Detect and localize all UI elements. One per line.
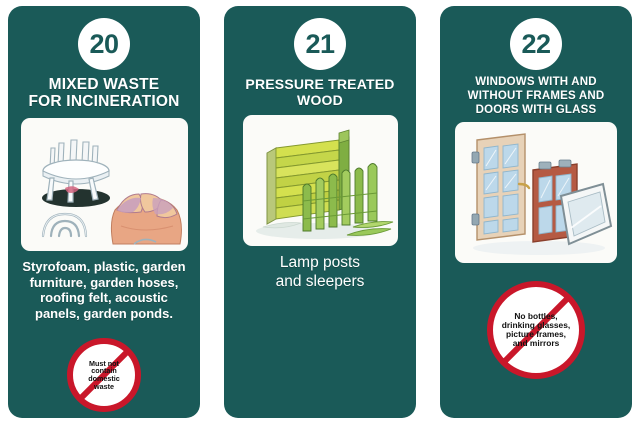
card-20-prohibition-text: Must not contain domestic waste xyxy=(88,360,120,391)
card-21-title: PRESSURE TREATED WOOD xyxy=(243,76,396,108)
card-20-number: 20 xyxy=(89,31,118,58)
recycling-signage-board: 20 MIXED WASTE FOR INCINERATION xyxy=(0,0,640,428)
card-21-illustration-panel xyxy=(243,115,398,246)
card-22-prohibition-line-4: and mirrors xyxy=(502,339,570,348)
card-20-caption-line-1: Styrofoam, plastic, garden xyxy=(22,259,185,275)
card-20-prohibition-line-4: waste xyxy=(88,383,120,391)
green-treated-fence-panel-icon xyxy=(243,115,398,246)
card-20-illustration-panel xyxy=(21,118,188,251)
card-22-title-line-3: DOORS WITH GLASS xyxy=(468,104,605,118)
card-20-caption-line-3: roofing felt, acoustic xyxy=(22,290,185,306)
card-21-caption-line-2: and sleepers xyxy=(276,273,365,292)
card-22-number-badge: 22 xyxy=(510,18,562,70)
card-22-title-line-2: WITHOUT FRAMES AND xyxy=(468,90,605,104)
card-22-prohibition-sign: No bottles, drinking glasses, picture fr… xyxy=(487,281,585,379)
card-20-caption-line-2: furniture, garden hoses, xyxy=(22,275,185,291)
card-20-title-line-1: MIXED WASTE xyxy=(28,76,179,93)
card-21-caption-line-1: Lamp posts xyxy=(276,254,365,273)
card-21-number: 21 xyxy=(305,31,334,58)
card-20-caption-line-4: panels, garden ponds. xyxy=(22,306,185,322)
card-21-caption: Lamp posts and sleepers xyxy=(272,254,369,291)
card-20-title: MIXED WASTE FOR INCINERATION xyxy=(26,76,181,111)
card-20-title-line-2: FOR INCINERATION xyxy=(28,93,179,110)
card-20-number-badge: 20 xyxy=(78,18,130,70)
card-22-prohibition-text: No bottles, drinking glasses, picture fr… xyxy=(502,312,570,348)
garden-furniture-hose-bag-icon xyxy=(21,118,188,251)
card-22-illustration-panel xyxy=(455,122,617,263)
waste-category-card-21[interactable]: 21 PRESSURE TREATED WOOD xyxy=(224,6,416,418)
windows-and-glazed-frames-icon xyxy=(455,122,617,263)
card-21-title-line-1: PRESSURE TREATED xyxy=(245,76,394,92)
card-21-title-line-2: WOOD xyxy=(245,92,394,108)
card-22-title: WINDOWS WITH AND WITHOUT FRAMES AND DOOR… xyxy=(466,76,607,117)
waste-category-card-22[interactable]: 22 WINDOWS WITH AND WITHOUT FRAMES AND D… xyxy=(440,6,632,418)
card-21-number-badge: 21 xyxy=(294,18,346,70)
card-20-caption: Styrofoam, plastic, garden furniture, ga… xyxy=(18,259,189,322)
card-20-prohibition-sign: Must not contain domestic waste xyxy=(67,338,141,412)
card-22-title-line-1: WINDOWS WITH AND xyxy=(468,76,605,90)
card-22-number: 22 xyxy=(521,31,550,58)
waste-category-card-20[interactable]: 20 MIXED WASTE FOR INCINERATION xyxy=(8,6,200,418)
